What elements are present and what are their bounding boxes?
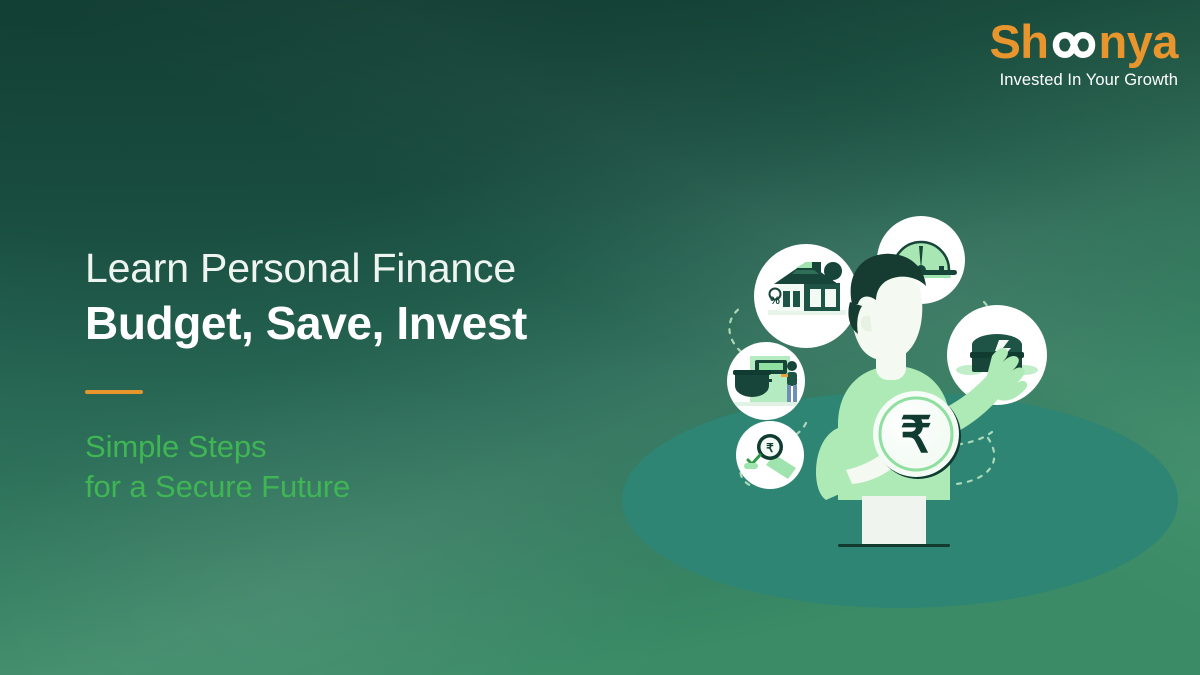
subheadline-line-2: for a Secure Future [85,467,527,507]
brand-wordmark: Sh nya [989,18,1178,65]
accent-divider [85,390,143,394]
atm-bubble [727,342,805,420]
headline-line-2: Budget, Save, Invest [85,298,527,350]
svg-text:%: % [770,295,780,307]
promo-banner: Sh nya Invested In Your Growth Learn Per… [0,0,1200,675]
brand-tagline: Invested In Your Growth [989,72,1178,89]
headline-line-1: Learn Personal Finance [85,246,527,292]
brand-wordmark-suffix: nya [1099,18,1179,65]
svg-text:₹: ₹ [766,441,774,455]
subheadline-line-1: Simple Steps [85,427,527,467]
personal-finance-illustration: % [600,170,1180,570]
subheadline: Simple Steps for a Secure Future [85,427,527,506]
brand-logo[interactable]: Sh nya Invested In Your Growth [989,18,1178,89]
brand-wordmark-prefix: Sh [989,18,1048,65]
infinity-icon [1050,30,1098,60]
copy-block: Learn Personal Finance Budget, Save, Inv… [85,246,527,507]
rupee-symbol: ₹ [900,407,932,463]
house-percent-bubble: % [754,244,858,348]
magnifier-bubble: ₹ [736,421,804,489]
